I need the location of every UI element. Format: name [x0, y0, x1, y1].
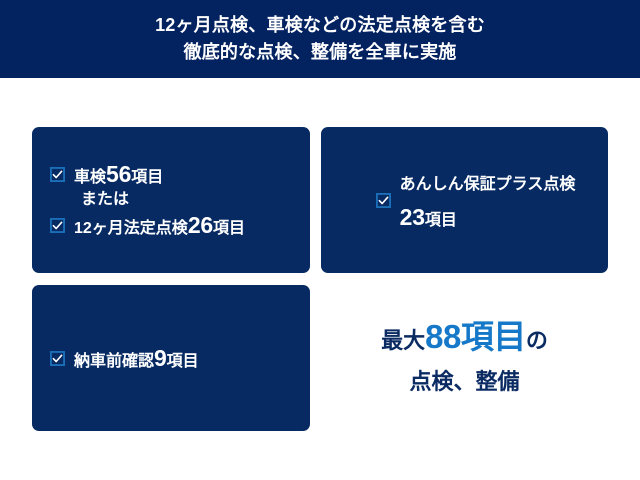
- total-items-summary: 最大88項目の 点検、整備: [321, 318, 608, 404]
- row-12month-26: 12ヶ月法定点検26項目: [50, 214, 310, 237]
- total-line-2: 点検、整備: [321, 363, 608, 404]
- anshin-line-1: あんしん保証プラス点検: [400, 170, 576, 194]
- row-12month-26-unit: 項目: [213, 221, 245, 237]
- row-matawa-label: または: [81, 192, 129, 208]
- anshin-unit: 項目: [425, 206, 457, 230]
- total-description: 点検、整備: [409, 369, 519, 394]
- total-number: 88: [425, 318, 461, 355]
- inspection-items-infographic: 12ヶ月点検、車検などの法定点検を含む 徹底的な点検、整備を全車に実施 車検56…: [0, 0, 640, 480]
- checkbox-checked-icon: [50, 167, 65, 182]
- total-line-1: 最大88項目の: [321, 318, 608, 363]
- anshin-count: 23: [400, 204, 425, 231]
- row-pre-delivery-9-text: 納車前確認9項目: [74, 347, 199, 370]
- total-unit: 項目: [461, 318, 526, 355]
- row-pre-delivery-9-prefix: 納車前確認: [74, 354, 154, 370]
- card-anshin-text-block: あんしん保証プラス点検 23項目: [400, 170, 576, 231]
- header-title-line-1: 12ヶ月点検、車検などの法定点検を含む: [155, 12, 485, 39]
- row-shaken-56-text: 車検56項目: [74, 163, 163, 186]
- card-anshin-warranty: あんしん保証プラス点検 23項目: [321, 127, 608, 273]
- header-title-line-2: 徹底的な点検、整備を全車に実施: [184, 39, 457, 66]
- card-shaken-inspection: 車検56項目 または 12ヶ月法定点検26項目: [32, 127, 310, 273]
- row-matawa: または: [50, 192, 310, 208]
- anshin-title: あんしん保証プラス点検: [400, 170, 576, 194]
- checkbox-checked-icon: [50, 351, 65, 366]
- row-shaken-56-prefix: 車検: [74, 170, 106, 186]
- card-pre-delivery-rows: 納車前確認9項目: [32, 285, 310, 431]
- row-shaken-56: 車検56項目: [50, 163, 310, 186]
- checkbox-checked-icon: [50, 218, 65, 233]
- row-pre-delivery-9: 納車前確認9項目: [50, 347, 310, 370]
- row-shaken-56-count: 56: [106, 163, 131, 186]
- row-12month-26-count: 26: [188, 214, 213, 237]
- row-12month-26-prefix: 12ヶ月法定点検: [74, 221, 188, 237]
- anshin-line-2: 23項目: [400, 204, 576, 231]
- card-anshin-rows: あんしん保証プラス点検 23項目: [321, 127, 608, 273]
- row-shaken-56-unit: 項目: [131, 170, 163, 186]
- row-pre-delivery-9-unit: 項目: [167, 354, 199, 370]
- card-pre-delivery-check: 納車前確認9項目: [32, 285, 310, 431]
- row-12month-26-text: 12ヶ月法定点検26項目: [74, 214, 245, 237]
- total-suffix: の: [526, 328, 548, 353]
- card-shaken-rows: 車検56項目 または 12ヶ月法定点検26項目: [32, 127, 310, 273]
- row-matawa-text: または: [81, 192, 129, 208]
- row-pre-delivery-9-count: 9: [154, 347, 167, 370]
- total-prefix: 最大: [381, 328, 425, 353]
- checkbox-checked-icon: [376, 193, 391, 208]
- header-banner: 12ヶ月点検、車検などの法定点検を含む 徹底的な点検、整備を全車に実施: [0, 0, 640, 78]
